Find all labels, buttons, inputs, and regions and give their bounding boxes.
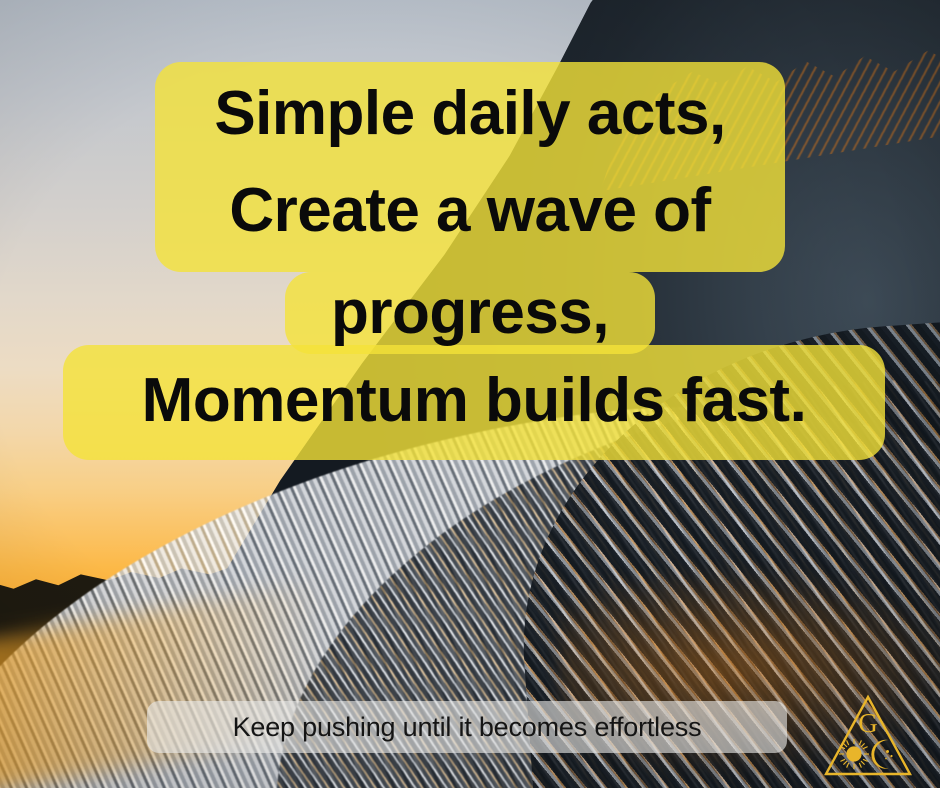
star-icon — [890, 755, 892, 757]
logo-letter-g: G — [858, 708, 878, 738]
quote-line-1: Simple daily acts, — [155, 78, 785, 149]
quote-line-3: progress, — [285, 277, 655, 348]
caption-text: Keep pushing until it becomes effortless — [147, 701, 787, 753]
star-icon — [885, 758, 887, 760]
quote-line-4: Momentum builds fast. — [63, 365, 885, 436]
crescent-moon-icon — [871, 740, 888, 769]
star-icon — [886, 750, 889, 753]
poster-canvas: Simple daily acts, Create a wave of prog… — [0, 0, 940, 788]
brand-logo[interactable]: G — [822, 692, 914, 780]
quote-line-2: Create a wave of — [155, 175, 785, 246]
sun-icon — [839, 739, 869, 769]
